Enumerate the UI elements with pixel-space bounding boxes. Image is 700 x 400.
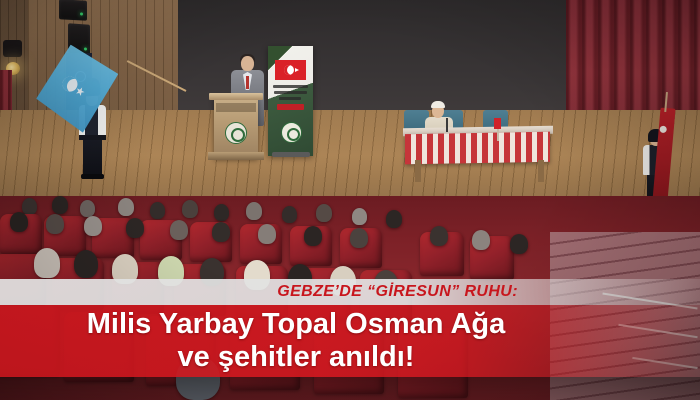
audience-head <box>258 224 276 244</box>
person-cap <box>431 101 445 108</box>
audience-head <box>214 204 229 221</box>
person-legs <box>83 139 102 176</box>
person-tie <box>246 76 249 89</box>
audience-head <box>246 202 262 220</box>
headline-line-2: ve şehitler anıldı! <box>178 341 415 374</box>
rollup-banner-text-line <box>274 91 307 94</box>
audience-head <box>352 208 367 225</box>
audience-head <box>350 228 368 248</box>
audience-head <box>386 210 402 228</box>
audience-head <box>150 202 165 219</box>
headline-band: Milis Yarbay Topal Osman Ağa ve şehitler… <box>0 305 700 377</box>
person-head <box>241 56 254 71</box>
audience-head <box>212 222 230 242</box>
audience-head <box>304 226 322 246</box>
audience-head <box>118 198 134 216</box>
audience-head <box>430 226 448 246</box>
audience-head <box>282 206 297 223</box>
rollup-banner-text-line <box>273 85 308 88</box>
audience-head <box>22 198 37 215</box>
rollup-banner-base <box>272 152 310 157</box>
podium-base <box>208 152 264 160</box>
wall-fixture <box>3 40 22 57</box>
association-emblem-icon <box>281 122 302 143</box>
audience-head <box>182 200 198 218</box>
rollup-banner-text-line <box>279 97 301 100</box>
podium-top <box>209 93 263 100</box>
audience-head <box>46 214 64 234</box>
audience-head <box>80 200 95 217</box>
audience-head <box>52 196 68 214</box>
table-leg <box>415 160 421 182</box>
speaker-led-icon <box>84 47 87 50</box>
audience-headscarf <box>34 248 60 278</box>
audience-head <box>126 218 144 238</box>
audience-head <box>472 230 490 250</box>
audience-head <box>510 234 528 254</box>
audience-head <box>84 216 102 236</box>
audience-head <box>74 250 98 278</box>
head-table-cloth <box>405 132 550 165</box>
microphone-icon <box>446 118 448 132</box>
audience-head <box>316 204 332 222</box>
person-shoes <box>81 174 104 179</box>
kicker-band: GEBZE’DE “GİRESUN” RUHU: <box>0 279 700 305</box>
speaker-led-icon <box>80 12 83 15</box>
turkish-flag-icon <box>275 60 306 80</box>
crescent-star-icon <box>284 65 294 75</box>
desk-flag-icon <box>494 118 501 129</box>
person-belt <box>79 135 106 140</box>
kicker-text: GEBZE’DE “GİRESUN” RUHU: <box>277 283 518 301</box>
podium-emblem-icon <box>225 122 247 144</box>
rollup-banner-highlight <box>277 104 304 110</box>
audience-head <box>10 212 28 232</box>
news-photo-card: ★ <box>0 0 700 400</box>
table-leg <box>538 160 544 182</box>
ceiling-speaker-icon <box>59 0 87 21</box>
headline-line-1: Milis Yarbay Topal Osman Ağa <box>87 308 506 341</box>
podium-nameplate <box>216 103 256 112</box>
audience-head <box>170 220 188 240</box>
